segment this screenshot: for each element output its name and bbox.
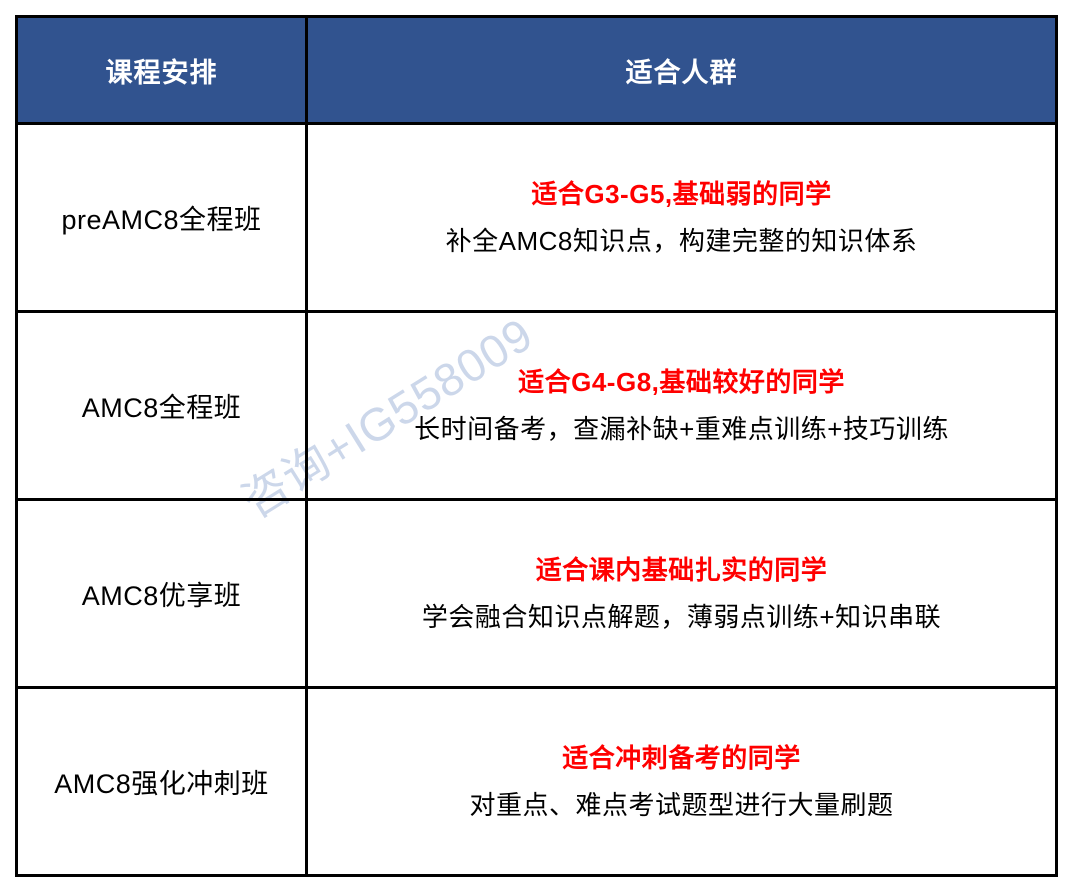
audience-cell: 适合冲刺备考的同学 对重点、难点考试题型进行大量刷题	[307, 688, 1057, 876]
course-name-cell: AMC8全程班	[17, 312, 307, 500]
table-row: AMC8强化冲刺班 适合冲刺备考的同学 对重点、难点考试题型进行大量刷题	[17, 688, 1057, 876]
course-table-container: 课程安排 适合人群 preAMC8全程班 适合G3-G5,基础弱的同学 补全AM…	[15, 15, 1055, 868]
audience-detail: 学会融合知识点解题，薄弱点训练+知识串联	[308, 598, 1055, 637]
course-table: 课程安排 适合人群 preAMC8全程班 适合G3-G5,基础弱的同学 补全AM…	[15, 15, 1058, 877]
column-header-audience: 适合人群	[307, 17, 1057, 124]
table-row: AMC8优享班 适合课内基础扎实的同学 学会融合知识点解题，薄弱点训练+知识串联	[17, 500, 1057, 688]
course-name-cell: AMC8强化冲刺班	[17, 688, 307, 876]
audience-cell: 适合G4-G8,基础较好的同学 长时间备考，查漏补缺+重难点训练+技巧训练	[307, 312, 1057, 500]
audience-headline: 适合课内基础扎实的同学	[308, 551, 1055, 590]
audience-cell: 适合课内基础扎实的同学 学会融合知识点解题，薄弱点训练+知识串联	[307, 500, 1057, 688]
table-row: preAMC8全程班 适合G3-G5,基础弱的同学 补全AMC8知识点，构建完整…	[17, 124, 1057, 312]
table-body: preAMC8全程班 适合G3-G5,基础弱的同学 补全AMC8知识点，构建完整…	[17, 124, 1057, 876]
table-row: AMC8全程班 适合G4-G8,基础较好的同学 长时间备考，查漏补缺+重难点训练…	[17, 312, 1057, 500]
audience-detail: 长时间备考，查漏补缺+重难点训练+技巧训练	[308, 410, 1055, 449]
audience-cell: 适合G3-G5,基础弱的同学 补全AMC8知识点，构建完整的知识体系	[307, 124, 1057, 312]
audience-headline: 适合G3-G5,基础弱的同学	[308, 175, 1055, 214]
audience-headline: 适合冲刺备考的同学	[308, 739, 1055, 778]
page-root: 咨询+IG558009 课程安排 适合人群 preAMC8全程班 适合G3-G5…	[0, 0, 1070, 886]
table-header-row: 课程安排 适合人群	[17, 17, 1057, 124]
audience-detail: 补全AMC8知识点，构建完整的知识体系	[308, 222, 1055, 261]
column-header-schedule: 课程安排	[17, 17, 307, 124]
audience-detail: 对重点、难点考试题型进行大量刷题	[308, 786, 1055, 825]
course-name-cell: preAMC8全程班	[17, 124, 307, 312]
course-name-cell: AMC8优享班	[17, 500, 307, 688]
audience-headline: 适合G4-G8,基础较好的同学	[308, 363, 1055, 402]
table-header: 课程安排 适合人群	[17, 17, 1057, 124]
